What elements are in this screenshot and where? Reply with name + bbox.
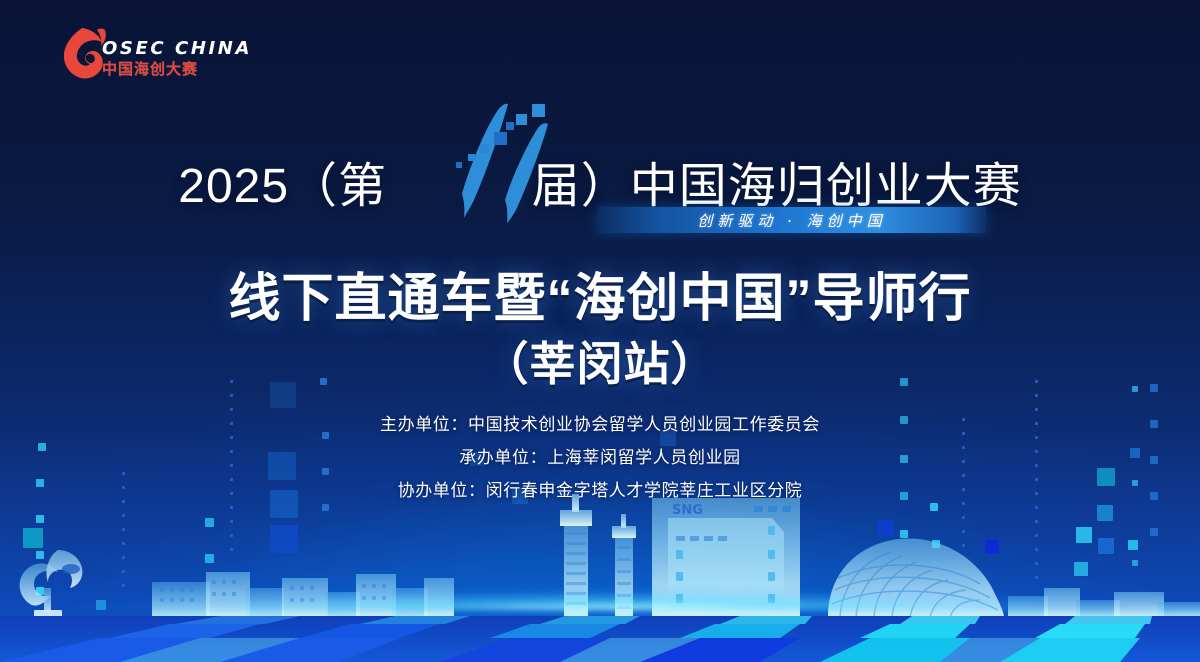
horizon-glow: [0, 580, 1200, 610]
organizer-role: 主办单位：: [380, 415, 468, 434]
slogan-banner: 创新驱动 · 海创中国: [598, 207, 986, 233]
brand-logo-chinese: 中国海创大赛: [102, 62, 252, 77]
city-skyline-illustration: SNG: [0, 492, 1200, 662]
slogan-text: 创新驱动 · 海创中国: [598, 207, 986, 233]
event-title-line1-prefix: 2025（第: [178, 160, 387, 213]
poster-canvas: OSEC CHINA 中国海创大赛 2025（第 届）中国海归创业大赛 创新驱动…: [0, 0, 1200, 662]
brand-logo-text: OSEC CHINA 中国海创大赛: [102, 40, 252, 77]
organizer-name: 上海莘闵留学人员创业园: [547, 448, 741, 467]
event-title-line1-suffix: 届）中国海归创业大赛: [532, 160, 1022, 213]
perspective-grid-floor: [0, 616, 1200, 662]
brand-logo: OSEC CHINA 中国海创大赛: [52, 26, 212, 88]
event-title-line1: 2025（第 届）中国海归创业大赛: [0, 146, 1200, 216]
organizer-row: 主办单位：中国技术创业协会留学人员创业园工作委员会: [0, 408, 1200, 441]
event-subtitle-line: 线下直通车暨“海创中国”导师行: [0, 256, 1200, 331]
brand-logo-english: OSEC CHINA: [102, 40, 252, 58]
organizer-role: 承办单位：: [459, 448, 547, 467]
organizer-name: 中国技术创业协会留学人员创业园工作委员会: [468, 415, 820, 434]
organizer-row: 承办单位：上海莘闵留学人员创业园: [0, 441, 1200, 474]
event-station-line: （莘闵站）: [0, 328, 1200, 394]
sng-building-label: SNG: [672, 503, 703, 518]
